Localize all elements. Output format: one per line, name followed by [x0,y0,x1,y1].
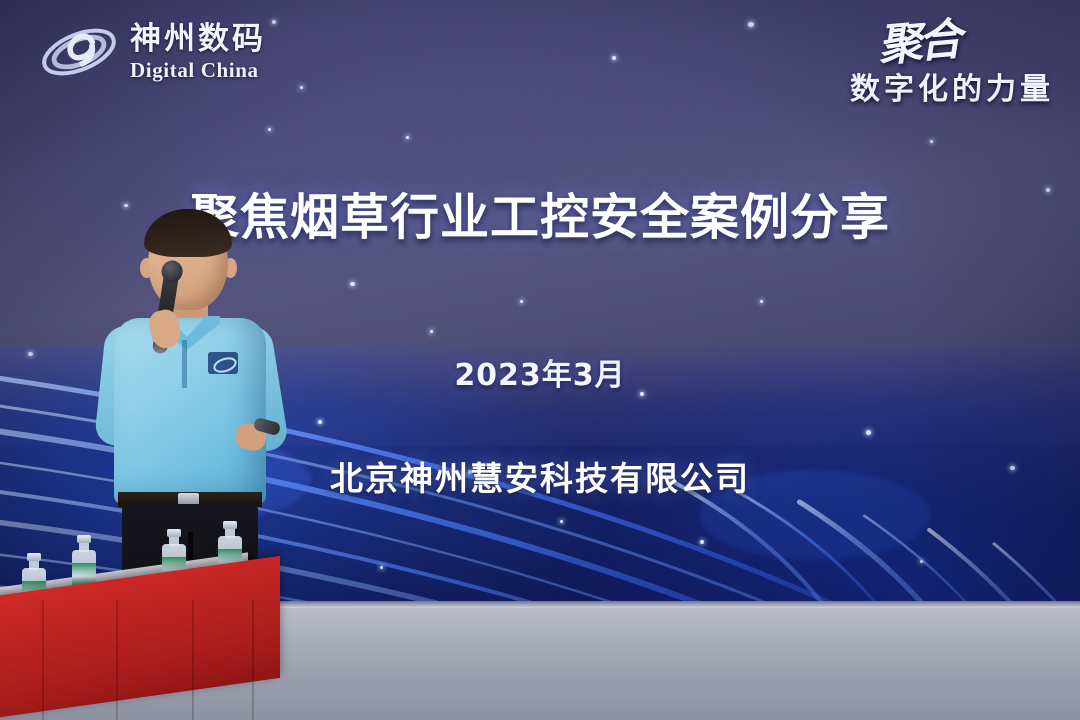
conference-photo: 神州数码 Digital China 聚合 数字化的力量 聚焦烟草行业工控安全案… [0,0,1080,720]
bottle-cap [167,529,181,537]
event-slogan-logo: 聚合 数字化的力量 [850,20,1054,108]
digital-china-wordmark: 神州数码 Digital China [130,24,266,81]
digital-china-swirl-logo [38,16,120,88]
cloth-fold [42,600,44,720]
chest-emblem-icon [208,352,238,374]
event-calligraphy: 聚合 [877,20,960,67]
cloth-fold [192,600,194,720]
speaker-placket [182,340,187,388]
bottle-cap [223,521,237,529]
swirl-icon [38,16,120,88]
cloth-fold [116,600,118,720]
speaker-hair [144,209,232,257]
bottle-cap [27,553,41,561]
brand-name-en: Digital China [130,60,266,81]
brand-name-cn: 神州数码 [130,24,266,55]
foreground-table [0,580,280,720]
bottle-cap [77,535,91,543]
cloth-fold [252,600,254,720]
digital-china-logo: 神州数码 Digital China [38,16,266,88]
